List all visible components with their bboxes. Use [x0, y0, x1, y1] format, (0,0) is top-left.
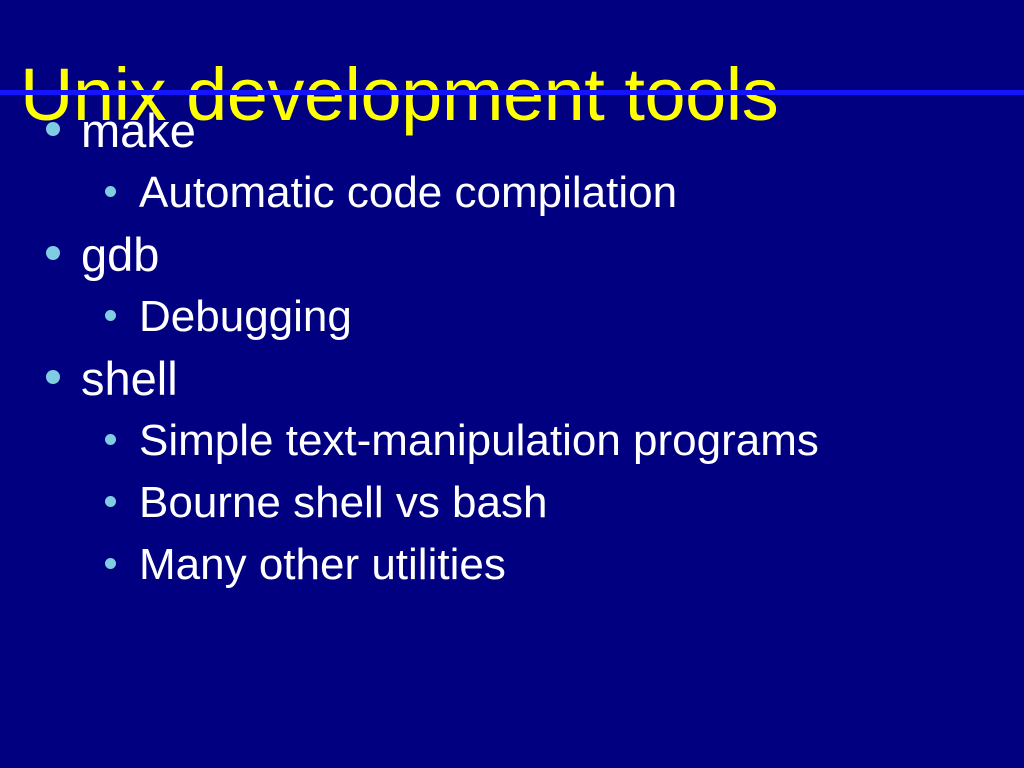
list-item: gdb — [0, 225, 1024, 287]
bullet-icon — [46, 370, 60, 384]
list-item-label: Simple text-manipulation programs — [139, 411, 819, 471]
bullet-list: make Automatic code compilation gdb Debu… — [0, 101, 1024, 597]
list-item: Debugging — [0, 287, 1024, 349]
title-divider-rule — [0, 90, 1024, 95]
bullet-icon — [105, 496, 116, 507]
list-item-label: Automatic code compilation — [139, 163, 677, 223]
list-item-label: gdb — [81, 225, 159, 285]
presentation-slide: Unix development tools make Automatic co… — [0, 0, 1024, 768]
list-item-label: Debugging — [139, 287, 352, 347]
list-item: make — [0, 101, 1024, 163]
list-item: Automatic code compilation — [0, 163, 1024, 225]
bullet-icon — [105, 310, 116, 321]
list-item-label: Many other utilities — [139, 535, 506, 595]
list-item: Simple text-manipulation programs — [0, 411, 1024, 473]
list-item: shell — [0, 349, 1024, 411]
bullet-icon — [105, 434, 116, 445]
bullet-icon — [46, 246, 60, 260]
list-item: Bourne shell vs bash — [0, 473, 1024, 535]
bullet-icon — [105, 186, 116, 197]
list-item-label: shell — [81, 349, 178, 409]
bullet-icon — [46, 122, 60, 136]
list-item-label: Bourne shell vs bash — [139, 473, 547, 533]
list-item-label: make — [81, 101, 196, 161]
bullet-icon — [105, 558, 116, 569]
list-item: Many other utilities — [0, 535, 1024, 597]
